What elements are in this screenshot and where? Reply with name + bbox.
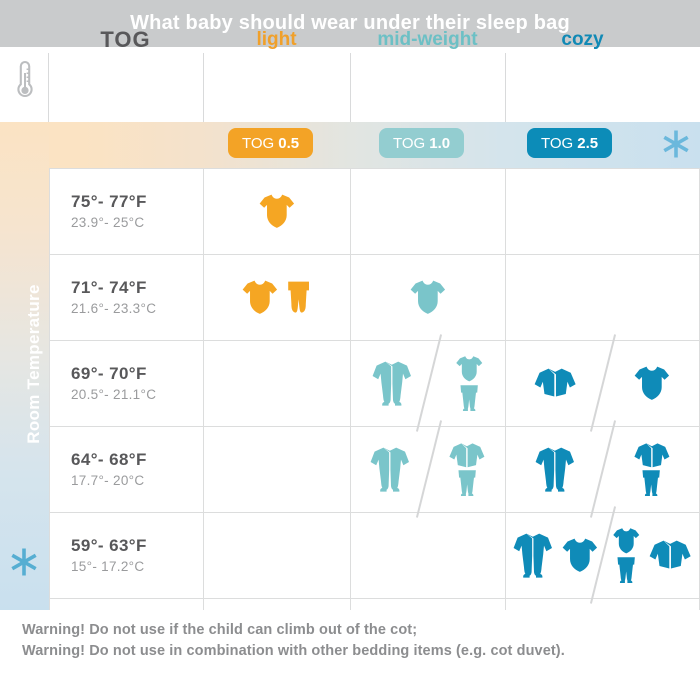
temp-fahrenheit-row-5: 59°- 63°F xyxy=(71,536,203,556)
clothing-option-1 xyxy=(369,426,411,512)
footer: Warning! Do not use if the child can cli… xyxy=(0,612,700,700)
pants-footed-icon xyxy=(640,469,662,496)
sleepsuit-icon xyxy=(534,446,576,492)
temp-fahrenheit-row-3: 69°- 70°F xyxy=(71,364,203,384)
header-divider-3 xyxy=(350,53,351,122)
snowflake-icon-cold-axis xyxy=(8,546,40,578)
column-title-light: light xyxy=(203,24,350,56)
clothing-cell-light-row-1 xyxy=(203,168,350,254)
temperature-cell-row-1: 75°- 77°F 23.9°- 25°C xyxy=(49,168,203,254)
clothing-option-2 xyxy=(455,340,484,426)
bodysuit-short-sleeve-icon xyxy=(258,193,296,229)
sleepsuit-icon xyxy=(371,360,413,406)
temperature-cell-row-3: 69°- 70°F 20.5°- 21.1°C xyxy=(49,340,203,426)
sleepsuit-icon xyxy=(512,532,554,578)
pill-prefix-cozy: TOG xyxy=(541,135,573,152)
top-long-sleeve-icon xyxy=(648,539,692,570)
clothing-option-1 xyxy=(533,340,577,426)
clothing-option-1 xyxy=(534,426,576,512)
option-divider-diagonal xyxy=(416,334,442,432)
clothing-cell-mid-weight-row-3 xyxy=(350,340,505,426)
pants-footed-icon xyxy=(456,469,478,496)
bodysuit-short-sleeve-icon xyxy=(241,279,279,315)
temp-fahrenheit-row-1: 75°- 77°F xyxy=(71,192,203,212)
bodysuit-short-sleeve-icon xyxy=(409,279,447,315)
temp-celsius-row-4: 17.7°- 20°C xyxy=(71,473,203,488)
top-long-sleeve-icon xyxy=(633,442,671,469)
clothing-cell-mid-weight-row-4 xyxy=(350,426,505,512)
clothing-option xyxy=(258,168,296,254)
clothing-option-1 xyxy=(371,340,413,426)
bodysuit-over-pants-group xyxy=(455,355,484,411)
top-over-pants-group xyxy=(633,442,671,497)
tog-pill-mid-weight: TOG1.0 xyxy=(379,128,464,158)
clothing-option xyxy=(241,254,313,340)
tog-pill-cozy: TOG2.5 xyxy=(527,128,612,158)
column-title-cozy: cozy xyxy=(505,24,660,56)
temp-fahrenheit-row-4: 64°- 68°F xyxy=(71,450,203,470)
column-header-band xyxy=(0,47,700,122)
column-title-mid-weight: mid-weight xyxy=(350,24,505,56)
bodysuit-short-sleeve-icon xyxy=(612,527,641,554)
thermometer-icon xyxy=(14,60,36,100)
clothing-cell-cozy-row-4 xyxy=(505,426,699,512)
header-divider-2 xyxy=(203,53,204,122)
option-divider-diagonal xyxy=(590,334,616,432)
top-long-sleeve-icon xyxy=(448,442,486,469)
temp-celsius-row-5: 15°- 17.2°C xyxy=(71,559,203,574)
temp-celsius-row-3: 20.5°- 21.1°C xyxy=(71,387,203,402)
option-divider-diagonal xyxy=(590,420,616,518)
clothing-cell-cozy-row-3 xyxy=(505,340,699,426)
pill-value-light: 0.5 xyxy=(278,135,299,152)
pants-icon xyxy=(285,280,312,314)
pants-footed-icon xyxy=(615,556,637,583)
clothing-option-2 xyxy=(448,426,486,512)
infographic-root: What baby should wear under their sleep … xyxy=(0,0,700,700)
axis-label-room-temperature: Room Temperature xyxy=(24,264,44,464)
temp-celsius-row-2: 21.6°- 23.3°C xyxy=(71,301,203,316)
temperature-cell-row-4: 64°- 68°F 17.7°- 20°C xyxy=(49,426,203,512)
top-over-pants-group xyxy=(448,442,486,497)
bodysuit-over-pants-group xyxy=(612,527,641,583)
clothing-option-2 xyxy=(633,426,671,512)
option-divider-diagonal xyxy=(416,420,442,518)
clothing-option-1 xyxy=(512,512,598,598)
snowflake-icon-hot-band xyxy=(660,128,692,160)
clothing-cell-cozy-row-5 xyxy=(505,512,699,598)
temp-celsius-row-1: 23.9°- 25°C xyxy=(71,215,203,230)
bodysuit-short-sleeve-icon xyxy=(561,537,599,573)
pants-footed-icon xyxy=(458,384,480,411)
temperature-cell-row-2: 71°- 74°F 21.6°- 23.3°C xyxy=(49,254,203,340)
grid-row-line-5 xyxy=(49,598,700,599)
tog-pill-light: TOG0.5 xyxy=(228,128,313,158)
temp-fahrenheit-row-2: 71°- 74°F xyxy=(71,278,203,298)
pill-value-mid-weight: 1.0 xyxy=(429,135,450,152)
bodysuit-short-sleeve-icon xyxy=(633,365,671,401)
header-divider-1 xyxy=(48,53,49,122)
temperature-cell-row-5: 59°- 63°F 15°- 17.2°C xyxy=(49,512,203,598)
warning-line-1: Warning! Do not use if the child can cli… xyxy=(22,622,417,638)
warning-line-2: Warning! Do not use in combination with … xyxy=(22,643,565,659)
pill-value-cozy: 2.5 xyxy=(577,135,598,152)
tog-column-label: TOG xyxy=(48,24,203,56)
top-long-sleeve-icon xyxy=(533,367,577,398)
pill-prefix-light: TOG xyxy=(242,135,274,152)
sleepsuit-icon xyxy=(369,446,411,492)
room-temperature-axis: Room Temperature xyxy=(0,122,49,610)
clothing-cell-light-row-2 xyxy=(203,254,350,340)
clothing-cell-mid-weight-row-2 xyxy=(350,254,505,340)
bodysuit-short-sleeve-icon xyxy=(455,355,484,382)
clothing-option xyxy=(409,254,447,340)
pill-prefix-mid-weight: TOG xyxy=(393,135,425,152)
clothing-option-2 xyxy=(633,340,671,426)
header-divider-4 xyxy=(505,53,506,122)
clothing-option-2 xyxy=(612,512,692,598)
